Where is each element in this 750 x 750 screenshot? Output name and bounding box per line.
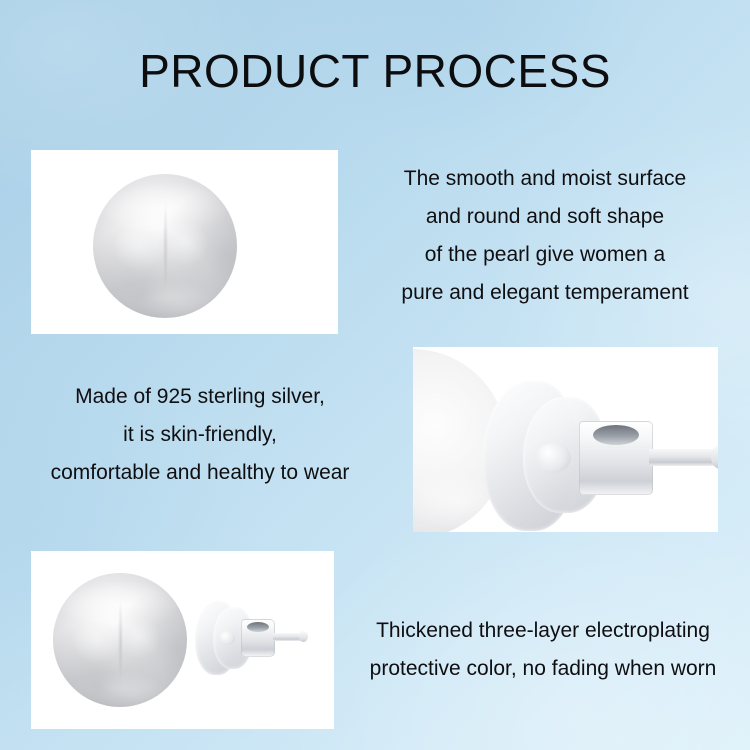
feature-text-pearl-surface: The smooth and moist surface and round a… <box>370 160 720 312</box>
feature-text-sterling-silver: Made of 925 sterling silver, it is skin-… <box>20 378 380 492</box>
feature-line: Thickened three-layer electroplating <box>348 612 738 650</box>
earring-clutch <box>191 597 311 681</box>
page-title: PRODUCT PROCESS <box>0 48 750 94</box>
feature-line: of the pearl give women a <box>370 236 720 274</box>
feature-line: comfortable and healthy to wear <box>20 454 380 492</box>
feature-line: pure and elegant temperament <box>370 274 720 312</box>
feature-line: it is skin-friendly, <box>20 416 380 454</box>
clutch-nub <box>219 631 235 645</box>
product-photo-stud-earring <box>31 551 334 729</box>
product-photo-clutch-macro <box>413 347 718 532</box>
clutch-nub <box>535 443 571 473</box>
pearl-bead <box>53 573 187 707</box>
feature-line: protective color, no fading when worn <box>348 650 738 688</box>
feature-line: and round and soft shape <box>370 198 720 236</box>
clutch-barrel-hole <box>247 622 269 632</box>
earring-clutch-macro <box>483 381 718 531</box>
pearl-bead <box>93 174 237 318</box>
feature-text-electroplating: Thickened three-layer electroplating pro… <box>348 612 738 688</box>
clutch-barrel-hole <box>593 425 639 445</box>
product-photo-pearl <box>31 150 338 334</box>
earring-post <box>649 449 718 466</box>
product-process-poster: PRODUCT PROCESS The smooth and moist sur… <box>0 0 750 750</box>
earring-post-tip <box>299 631 308 642</box>
feature-line: Made of 925 sterling silver, <box>20 378 380 416</box>
feature-line: The smooth and moist surface <box>370 160 720 198</box>
